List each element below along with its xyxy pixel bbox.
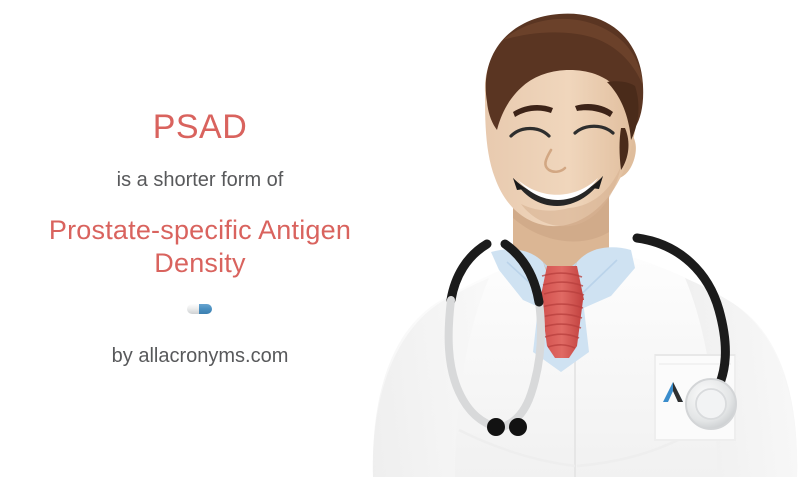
text-column: PSAD is a shorter form of Prostate-speci… [0, 0, 400, 477]
head [485, 14, 643, 227]
connector-text: is a shorter form of [117, 168, 284, 192]
stethoscope-chestpiece [686, 379, 736, 429]
acronym-title: PSAD [153, 109, 248, 146]
expansion-text: Prostate-specific Antigen Density [35, 214, 365, 280]
pill-capsule-icon [187, 304, 213, 314]
pill-capsule-right-half [199, 304, 212, 314]
acronym-card: PSAD is a shorter form of Prostate-speci… [0, 0, 801, 477]
attribution-text: by allacronyms.com [112, 344, 289, 368]
smiling-doctor-illustration [363, 0, 801, 477]
